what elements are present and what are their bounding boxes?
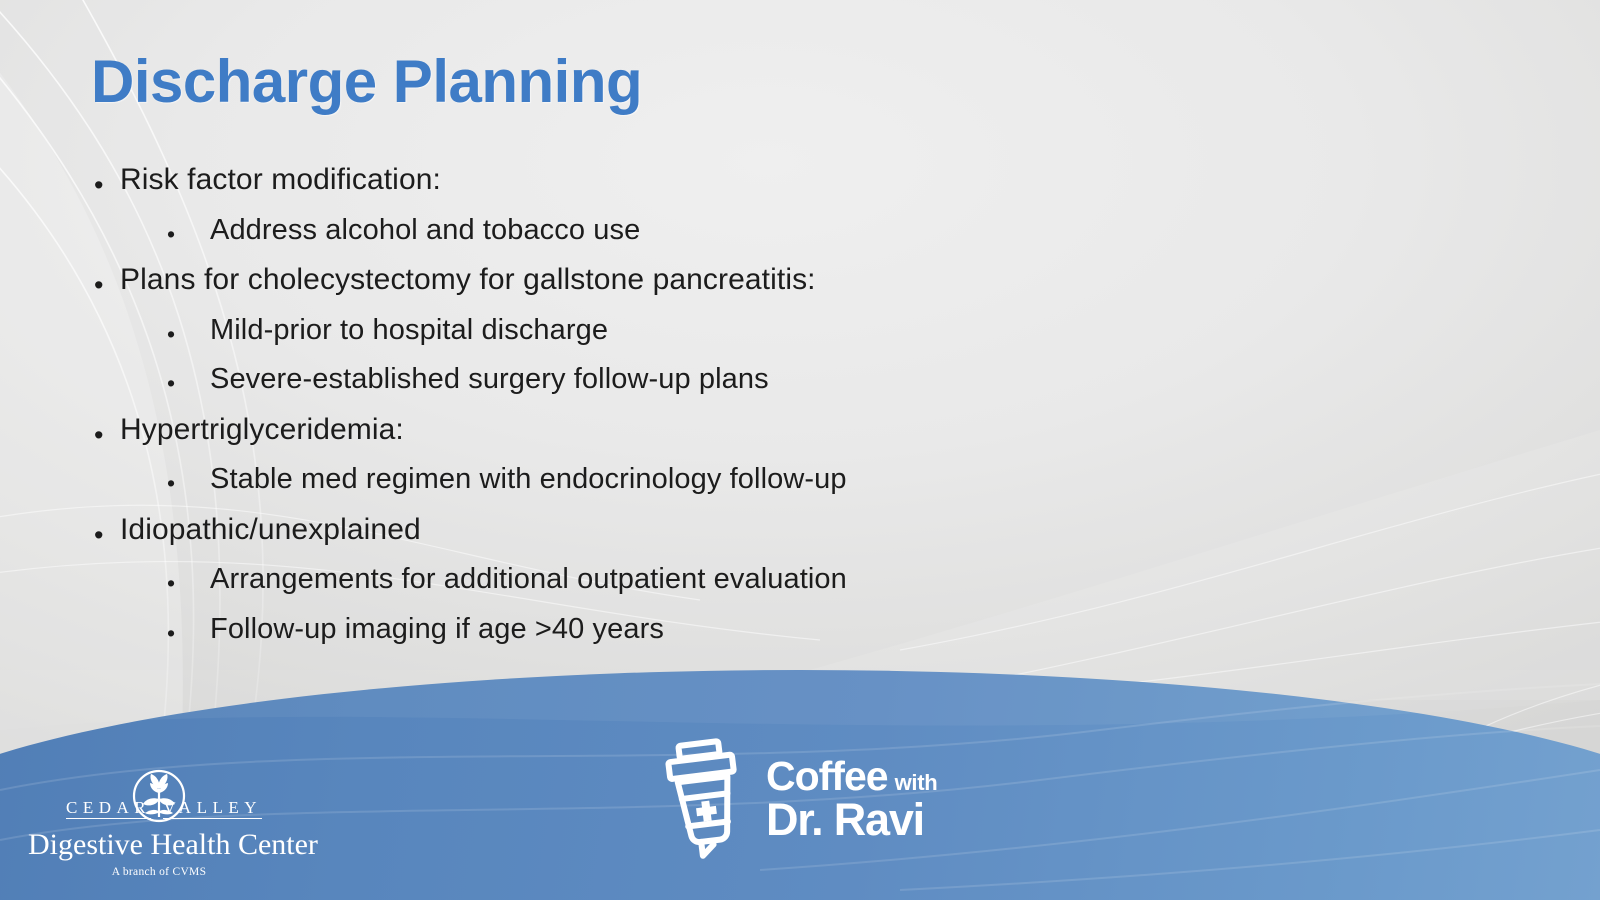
coffee-logo-text: Coffee with Dr. Ravi [766, 757, 937, 842]
coffee-doctor-name: Dr. Ravi [766, 799, 937, 842]
spacer [91, 602, 1271, 613]
bullet-icon: • [167, 372, 175, 395]
coffee-cup-medical-cross-icon [660, 738, 752, 860]
spacer [91, 303, 1271, 314]
slide: Discharge Planning • Risk factor modific… [0, 0, 1600, 900]
cedar-valley-word-right: VALLEY [163, 799, 262, 819]
cedar-valley-tagline: A branch of CVMS [28, 866, 290, 878]
coffee-with-dr-ravi-logo: Coffee with Dr. Ravi [660, 738, 937, 860]
list-item-label: Address alcohol and tobacco use [91, 214, 1271, 246]
coffee-with-word: with [895, 773, 938, 794]
list-item: • Severe-established surgery follow-up p… [91, 363, 1271, 395]
spacer [91, 352, 1271, 363]
bullet-icon: • [94, 272, 103, 299]
bullet-icon: • [167, 223, 175, 246]
bullet-icon: • [167, 622, 175, 645]
list-item: • Risk factor modification: [91, 163, 1271, 197]
bullet-icon: • [94, 172, 103, 199]
cedar-valley-logo: CEDAR VALLEY Digestive Health Center A b… [28, 769, 290, 878]
list-item: • Address alcohol and tobacco use [91, 214, 1271, 246]
spacer [91, 452, 1271, 463]
list-item: • Arrangements for additional outpatient… [91, 563, 1271, 595]
bullet-icon: • [167, 472, 175, 495]
bullet-icon: • [167, 572, 175, 595]
cedar-valley-word-left: CEDAR [66, 799, 151, 819]
footer-band: CEDAR VALLEY Digestive Health Center A b… [0, 670, 1600, 900]
list-item-label: Severe-established surgery follow-up pla… [91, 363, 1271, 395]
list-item-label: Risk factor modification: [91, 163, 1271, 197]
list-item: • Idiopathic/unexplained [91, 513, 1271, 547]
bullet-icon: • [94, 522, 103, 549]
list-item: • Stable med regimen with endocrinology … [91, 463, 1271, 495]
bullet-icon: • [94, 422, 103, 449]
list-item: • Follow-up imaging if age >40 years [91, 613, 1271, 645]
list-item-label: Plans for cholecystectomy for gallstone … [91, 263, 1271, 297]
spacer [91, 203, 1271, 214]
spacer [91, 502, 1271, 513]
spacer [91, 552, 1271, 563]
bullet-icon: • [167, 323, 175, 346]
list-item: • Hypertriglyceridemia: [91, 413, 1271, 447]
list-item-label: Mild-prior to hospital discharge [91, 314, 1271, 346]
list-item: • Plans for cholecystectomy for gallston… [91, 263, 1271, 297]
spacer [91, 252, 1271, 263]
coffee-word: Coffee [766, 757, 888, 796]
slide-body-content: • Risk factor modification: • Address al… [91, 163, 1271, 651]
list-item-label: Idiopathic/unexplained [91, 513, 1271, 547]
list-item-label: Stable med regimen with endocrinology fo… [91, 463, 1271, 495]
list-item-label: Follow-up imaging if age >40 years [91, 613, 1271, 645]
cedar-valley-main-name: Digestive Health Center [28, 829, 290, 861]
cedar-valley-emblem-row: CEDAR VALLEY [28, 769, 290, 827]
list-item-label: Arrangements for additional outpatient e… [91, 563, 1271, 595]
list-item: • Mild-prior to hospital discharge [91, 314, 1271, 346]
coffee-logo-line-1: Coffee with [766, 757, 937, 796]
spacer [91, 402, 1271, 413]
page-title: Discharge Planning [91, 47, 642, 116]
list-item-label: Hypertriglyceridemia: [91, 413, 1271, 447]
